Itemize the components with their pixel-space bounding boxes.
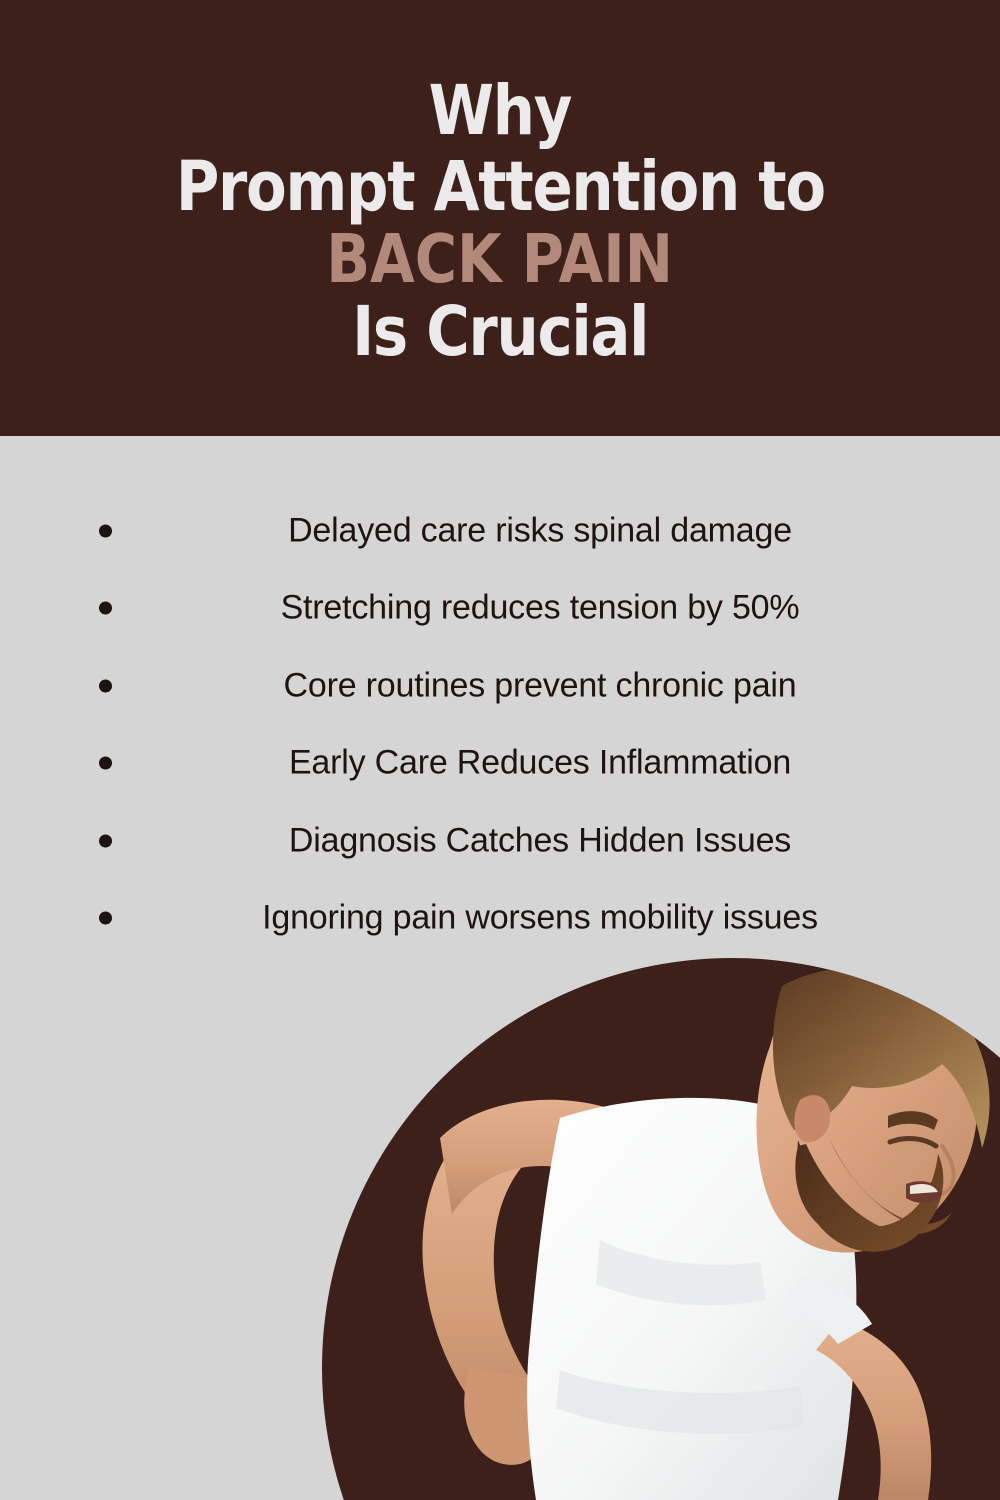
bullet-dot-icon bbox=[99, 679, 112, 692]
back-pain-illustration bbox=[0, 940, 1000, 1500]
title-line-why: Why bbox=[429, 78, 572, 146]
bullet-list: Delayed care risks spinal damage Stretch… bbox=[0, 436, 1000, 956]
title-line-is-crucial: Is Crucial bbox=[352, 299, 648, 367]
bullet-dot-icon bbox=[99, 757, 112, 770]
list-item-label: Core routines prevent chronic pain bbox=[150, 666, 930, 705]
list-item-label: Stretching reduces tension by 50% bbox=[150, 589, 930, 628]
list-item-label: Early Care Reduces Inflammation bbox=[150, 744, 930, 783]
list-item: Core routines prevent chronic pain bbox=[0, 647, 1000, 725]
list-item: Diagnosis Catches Hidden Issues bbox=[0, 802, 1000, 880]
list-item: Delayed care risks spinal damage bbox=[0, 492, 1000, 570]
bullet-dot-icon bbox=[99, 912, 112, 925]
list-item-label: Ignoring pain worsens mobility issues bbox=[150, 899, 930, 938]
list-item-label: Delayed care risks spinal damage bbox=[150, 511, 930, 550]
infographic-poster: Why Prompt Attention to BACK PAIN Is Cru… bbox=[0, 0, 1000, 1500]
back-pain-photo bbox=[0, 940, 1000, 1500]
list-item-label: Diagnosis Catches Hidden Issues bbox=[150, 821, 930, 860]
list-item: Stretching reduces tension by 50% bbox=[0, 570, 1000, 648]
list-item: Early Care Reduces Inflammation bbox=[0, 725, 1000, 803]
header-band: Why Prompt Attention to BACK PAIN Is Cru… bbox=[0, 0, 1000, 436]
title-line-prompt-attention-to: Prompt Attention to bbox=[175, 154, 824, 222]
title-line-back-pain-accent: BACK PAIN bbox=[327, 227, 674, 293]
bullet-dot-icon bbox=[99, 834, 112, 847]
bullet-dot-icon bbox=[99, 602, 112, 615]
bullet-dot-icon bbox=[99, 524, 112, 537]
